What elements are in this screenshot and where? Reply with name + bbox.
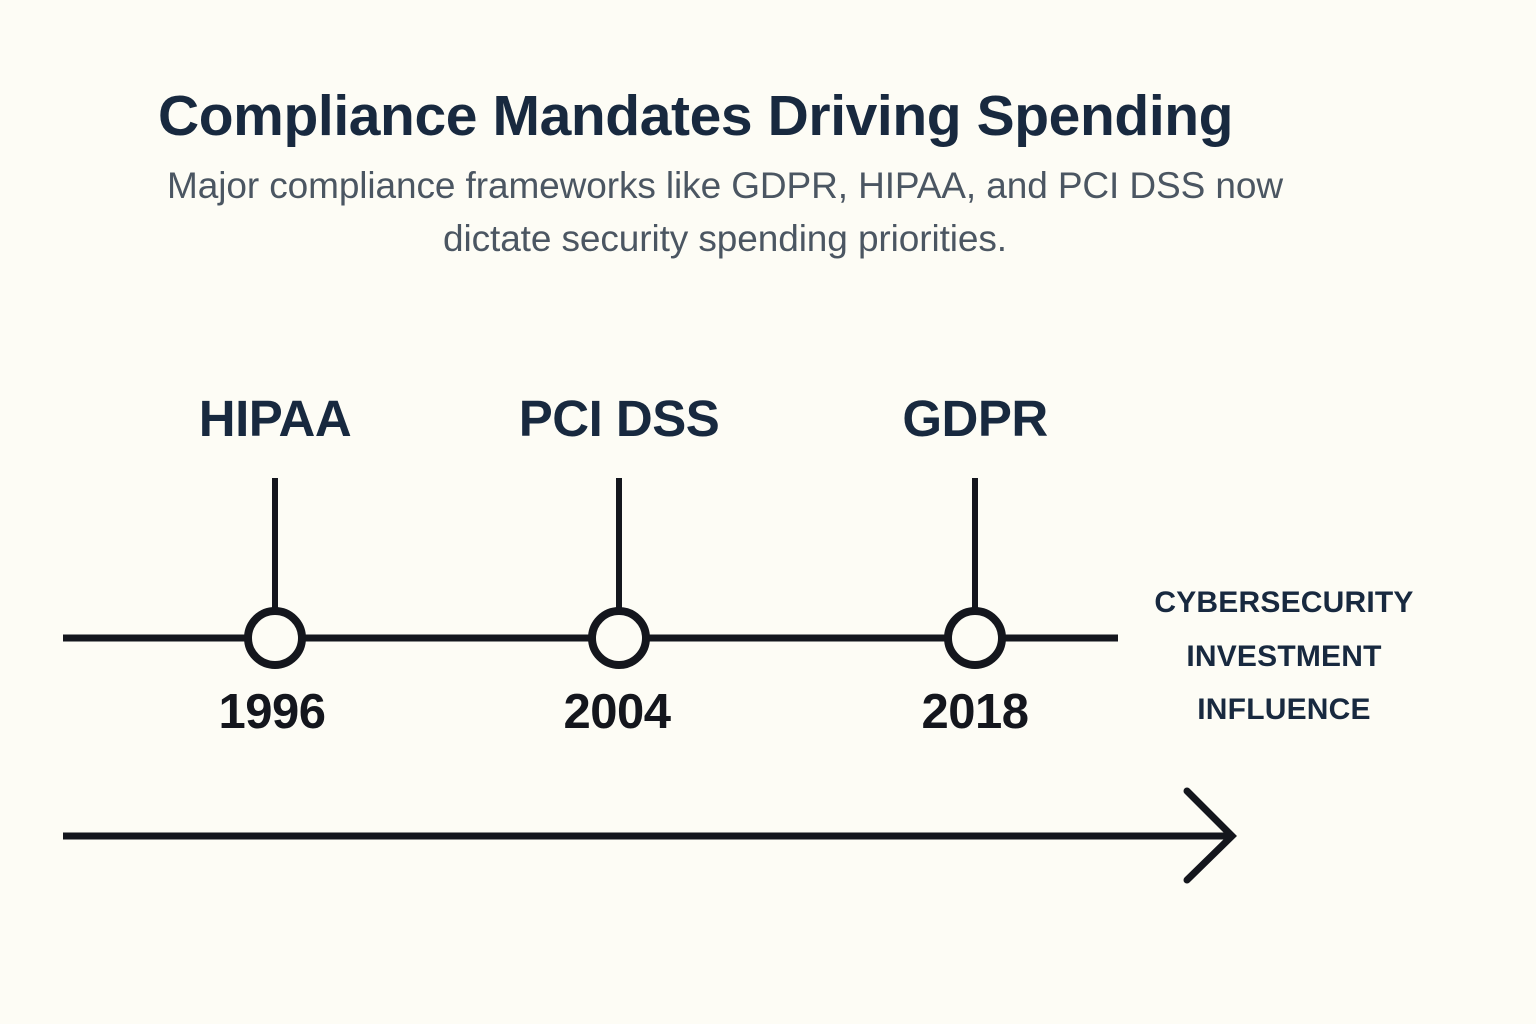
- axis-caption: CYBERSECURITY INVESTMENT INFLUENCE: [1112, 576, 1456, 737]
- axis-caption-line-3: INFLUENCE: [1112, 683, 1456, 737]
- infographic-canvas: Compliance Mandates Driving Spending Maj…: [0, 0, 1536, 1024]
- timeline-marker-pci-dss[interactable]: [592, 611, 646, 665]
- timeline-graphic: [0, 0, 1536, 1024]
- timeline-marker-hipaa[interactable]: [248, 611, 302, 665]
- axis-caption-line-1: CYBERSECURITY: [1112, 576, 1456, 630]
- timeline-year-label-2018: 2018: [921, 684, 1028, 740]
- timeline-marker-gdpr[interactable]: [948, 611, 1002, 665]
- timeline-event-label-gdpr: GDPR: [902, 389, 1047, 448]
- timeline-year-label-1996: 1996: [218, 684, 325, 740]
- axis-caption-line-2: INVESTMENT: [1112, 630, 1456, 684]
- timeline-event-label-hipaa: HIPAA: [199, 389, 351, 448]
- timeline-year-label-2004: 2004: [563, 684, 670, 740]
- timeline-event-label-pci-dss: PCI DSS: [519, 389, 720, 448]
